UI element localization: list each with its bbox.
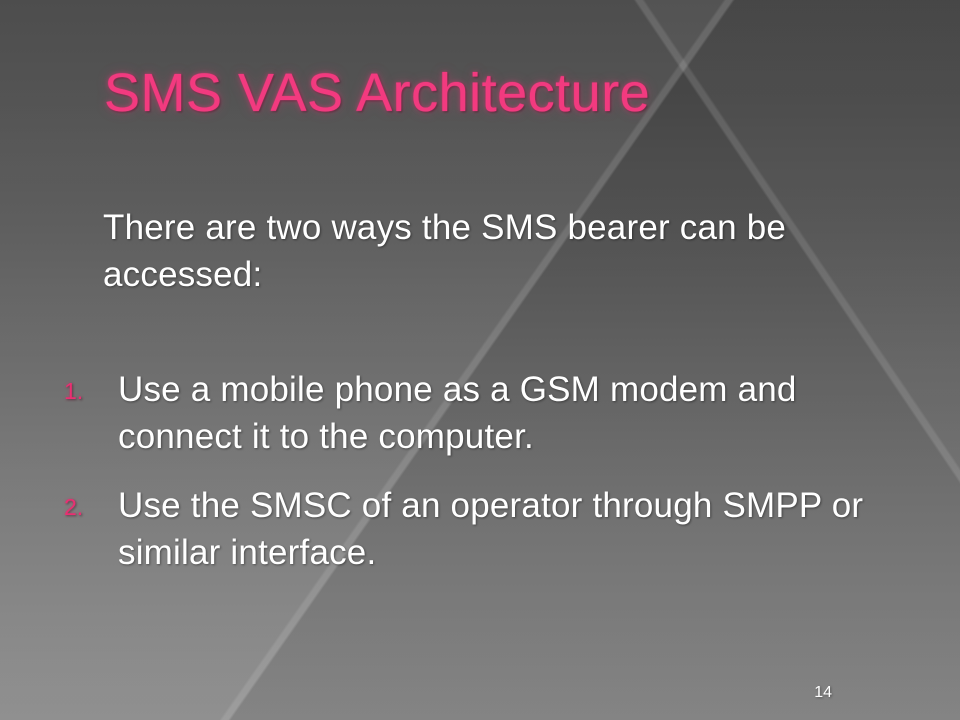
list-marker-2: 2.: [64, 482, 118, 519]
slide-number: 14: [814, 684, 832, 702]
list-item-text-1: Use a mobile phone as a GSM modem and co…: [118, 366, 924, 460]
list-item: 2. Use the SMSC of an operator through S…: [64, 482, 924, 576]
numbered-list: 1. Use a mobile phone as a GSM modem and…: [64, 366, 924, 598]
list-item: 1. Use a mobile phone as a GSM modem and…: [64, 366, 924, 460]
slide-intro-text: There are two ways the SMS bearer can be…: [103, 204, 893, 298]
list-marker-1: 1.: [64, 366, 118, 403]
slide-title: SMS VAS Architecture: [104, 62, 904, 124]
presentation-slide: SMS VAS Architecture There are two ways …: [0, 0, 960, 720]
list-item-text-2: Use the SMSC of an operator through SMPP…: [118, 482, 924, 576]
